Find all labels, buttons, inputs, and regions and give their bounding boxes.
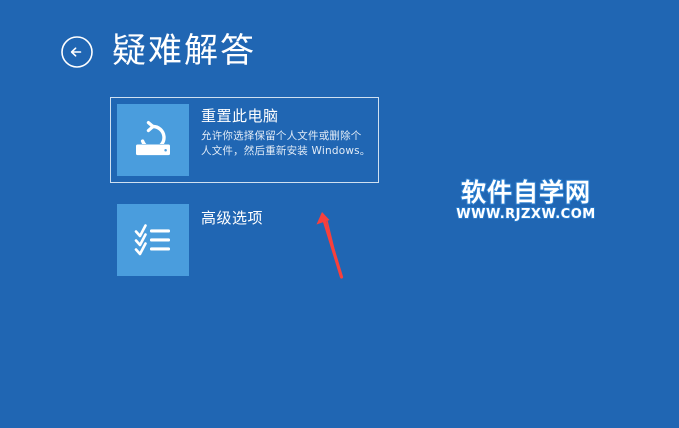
option-title: 高级选项 xyxy=(201,206,372,228)
watermark: 软件自学网 WWW.RJZXW.COM xyxy=(444,180,608,226)
options-list: 重置此电脑 允许你选择保留个人文件或删除个人文件，然后重新安装 Windows。 xyxy=(110,97,410,283)
watermark-title: 软件自学网 xyxy=(444,180,608,206)
option-title: 重置此电脑 xyxy=(201,106,372,126)
advanced-options-icon-tile xyxy=(117,204,189,276)
checklist-icon xyxy=(129,216,177,264)
back-button[interactable] xyxy=(60,35,94,69)
page-title: 疑难解答 xyxy=(112,25,256,77)
troubleshoot-screen: 疑难解答 重置此电脑 允许你选择保留个人文件或删除个人文件，然后重新安装 Win… xyxy=(0,0,679,428)
option-advanced-options[interactable]: 高级选项 xyxy=(110,197,379,283)
option-text-block: 重置此电脑 允许你选择保留个人文件或删除个人文件，然后重新安装 Windows。 xyxy=(189,104,372,159)
option-description: 允许你选择保留个人文件或删除个人文件，然后重新安装 Windows。 xyxy=(201,129,372,159)
reset-pc-icon xyxy=(129,116,177,164)
watermark-url: WWW.RJZXW.COM xyxy=(444,207,608,223)
option-text-block: 高级选项 xyxy=(189,204,372,228)
screen-header: 疑难解答 xyxy=(0,0,679,92)
back-arrow-circle-icon xyxy=(60,35,94,69)
option-reset-this-pc[interactable]: 重置此电脑 允许你选择保留个人文件或删除个人文件，然后重新安装 Windows。 xyxy=(110,97,379,183)
reset-pc-icon-tile xyxy=(117,104,189,176)
